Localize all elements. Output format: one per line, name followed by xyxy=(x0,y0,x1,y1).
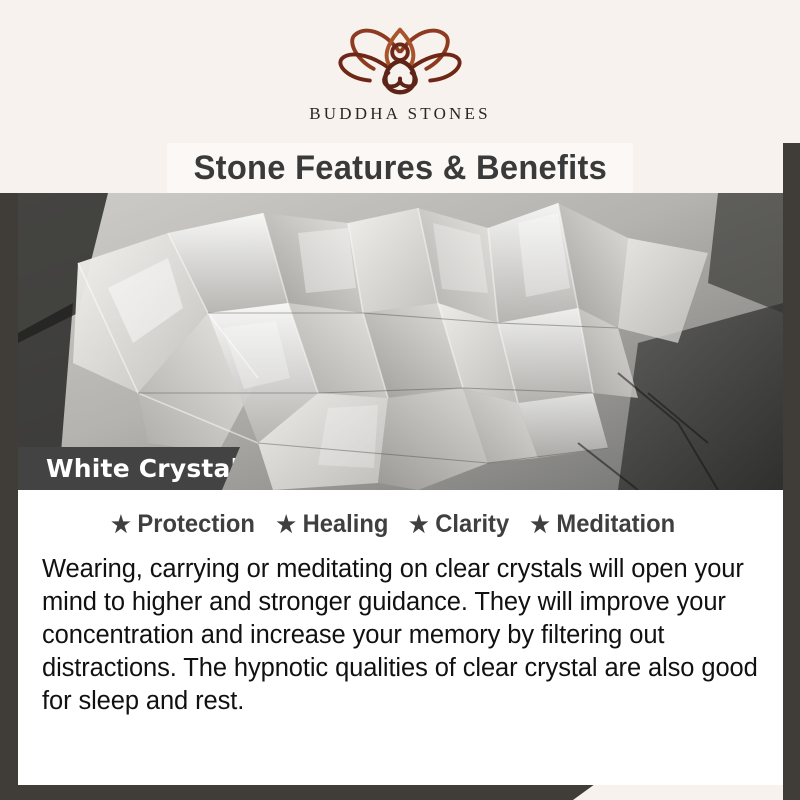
benefit-item-healing: ★ Healing xyxy=(276,510,402,539)
benefit-label: Clarity xyxy=(435,510,509,539)
crystal-cluster-illustration xyxy=(18,193,783,490)
benefit-label: Protection xyxy=(137,510,254,539)
page-title: Stone Features & Benefits xyxy=(193,149,606,188)
stone-name-badge: White Crystal xyxy=(18,447,240,490)
lotus-meditation-figure-icon xyxy=(325,22,475,102)
star-icon: ★ xyxy=(531,513,551,536)
frame-accent-left xyxy=(0,193,18,800)
brand-name: BUDDHA STONES xyxy=(309,104,491,124)
title-banner: Stone Features & Benefits xyxy=(167,143,633,193)
benefit-label: Healing xyxy=(303,510,389,539)
stone-name-label: White Crystal xyxy=(46,454,239,483)
hero-photo xyxy=(18,193,783,490)
benefit-label: Meditation xyxy=(557,510,676,539)
product-info-poster: BUDDHA STONES Stone Features & Benefits xyxy=(0,0,800,800)
content-panel: ★ Protection ★ Healing ★ Clarity ★ Medit… xyxy=(18,490,783,785)
benefit-item-clarity: ★ Clarity xyxy=(409,510,523,539)
star-icon: ★ xyxy=(409,513,429,536)
brand-header: BUDDHA STONES xyxy=(0,0,800,143)
frame-accent-bottom xyxy=(0,784,595,800)
star-icon: ★ xyxy=(276,513,296,536)
benefit-item-meditation: ★ Meditation xyxy=(531,510,690,539)
star-icon: ★ xyxy=(111,513,131,536)
benefits-row: ★ Protection ★ Healing ★ Clarity ★ Medit… xyxy=(18,490,783,539)
description-text: Wearing, carrying or meditating on clear… xyxy=(42,553,761,717)
benefit-item-protection: ★ Protection xyxy=(111,510,269,539)
